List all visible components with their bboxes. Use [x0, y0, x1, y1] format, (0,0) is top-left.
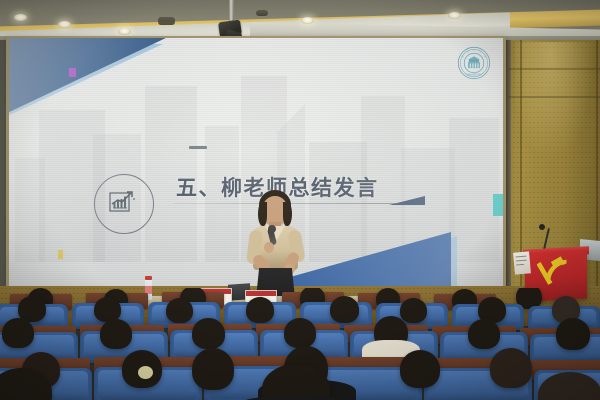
audience-head	[284, 318, 316, 348]
wall-seam	[596, 40, 598, 302]
ceiling-vent-icon	[256, 10, 268, 16]
speaker-left-hand	[264, 242, 274, 253]
gooseneck-microphone-icon	[539, 224, 545, 230]
paper-line	[516, 264, 524, 266]
speaker-hair-right	[283, 202, 292, 226]
audience-head	[400, 298, 427, 323]
downlight-icon	[118, 28, 131, 35]
wall-panel-band	[508, 68, 600, 70]
speaker-hair-left	[258, 202, 267, 226]
paper-line	[515, 256, 526, 258]
microphone-head-icon	[268, 225, 276, 233]
podium-papers	[513, 251, 531, 274]
downlight-icon	[58, 21, 71, 28]
ceiling-vent-icon	[158, 17, 175, 25]
paper-line	[516, 260, 527, 262]
audience-area	[0, 288, 600, 400]
audience-head	[246, 297, 274, 323]
downlight-icon	[301, 17, 314, 24]
audience-head	[490, 348, 532, 388]
audience-head	[400, 350, 440, 388]
audience-head	[166, 298, 193, 323]
bottle-cap	[145, 276, 152, 280]
right-wall-light-glow	[515, 42, 595, 162]
audience-head	[330, 296, 359, 323]
audience-head	[556, 318, 590, 350]
auditorium-photo: 五、柳老师总结发言 UNIVERSITY	[0, 0, 600, 400]
hammer-and-sickle-emblem	[537, 256, 575, 290]
hair-clip	[138, 366, 153, 379]
downlight-icon	[14, 14, 27, 21]
audience-head	[192, 348, 234, 390]
audience-head	[100, 319, 132, 349]
downlight-icon	[448, 12, 461, 19]
wall-panel-band	[508, 96, 600, 98]
audience-head	[192, 318, 225, 349]
audience-head	[468, 319, 500, 349]
audience-head	[2, 318, 34, 348]
